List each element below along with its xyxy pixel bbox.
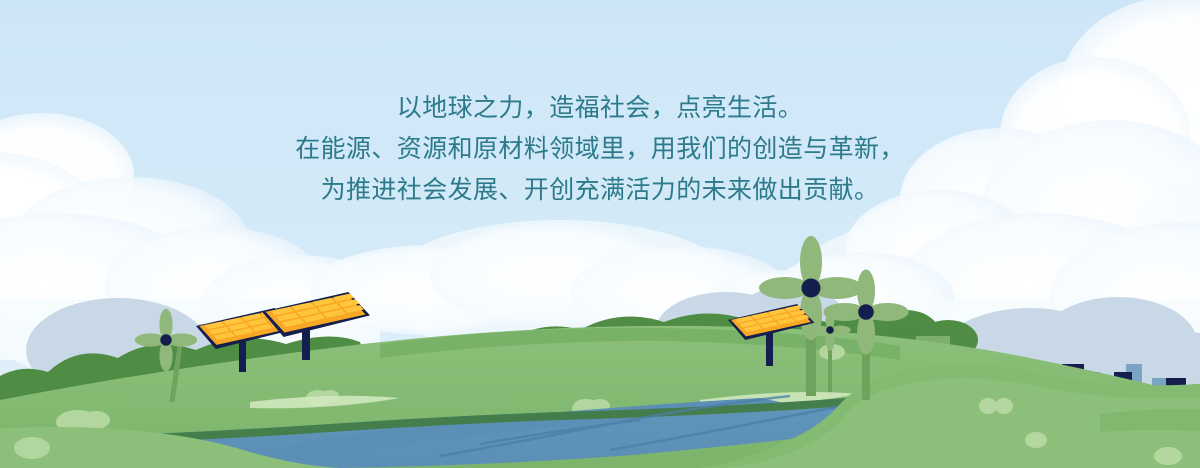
eco-hero-banner: 以地球之力，造福社会，点亮生活。 在能源、资源和原材料领域里，用我们的创造与革新… — [0, 0, 1200, 468]
landscape-illustration — [0, 0, 1200, 468]
